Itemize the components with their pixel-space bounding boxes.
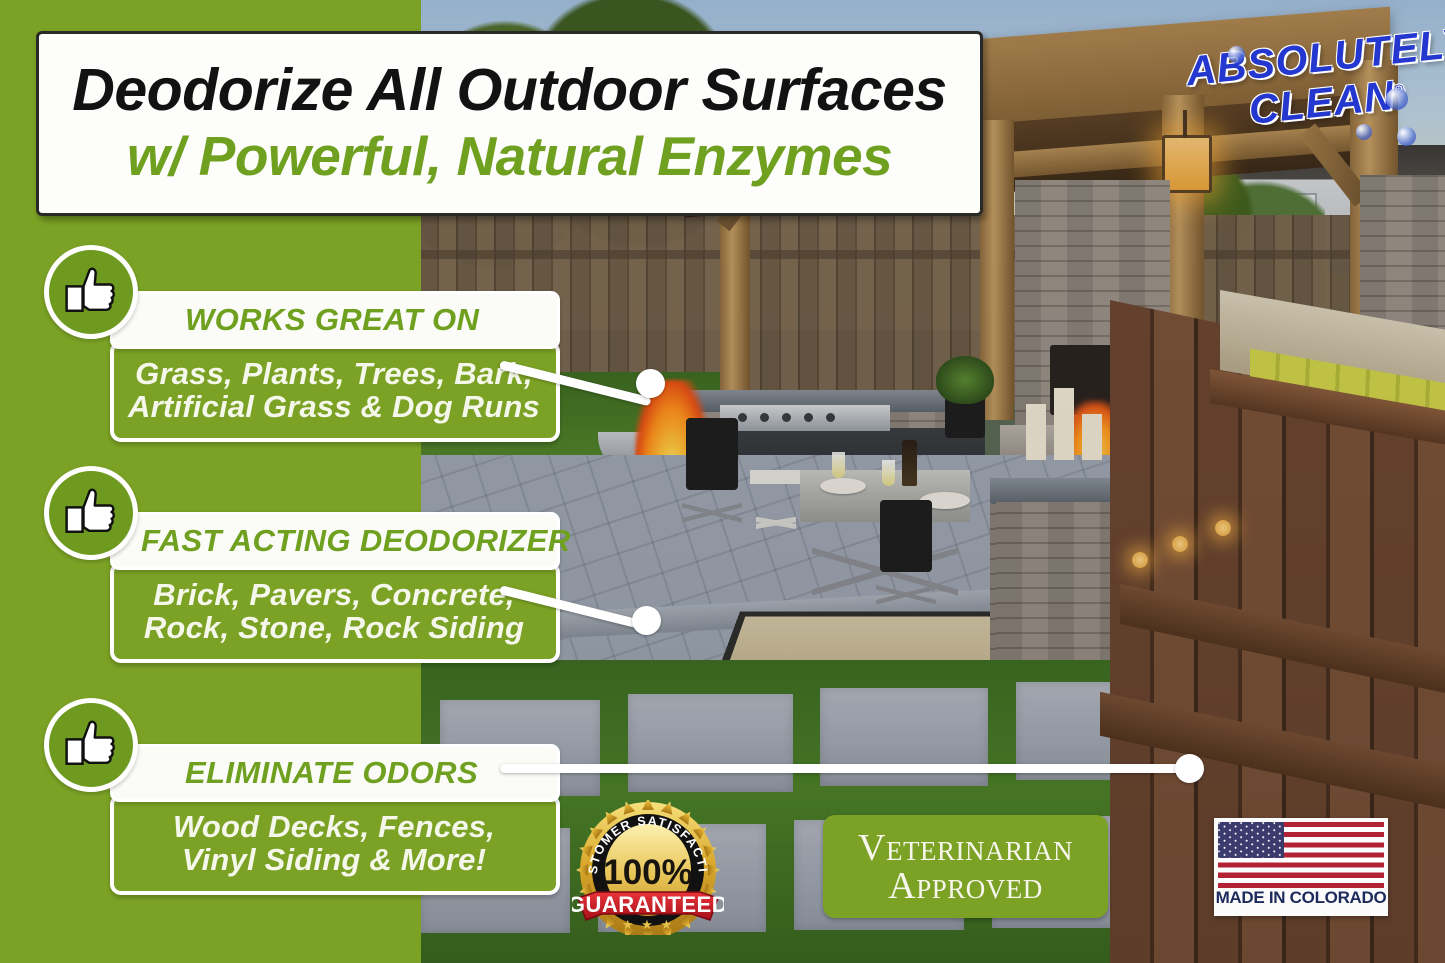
feature-body-box: Grass, Plants, Trees, Bark, Artificial G… bbox=[110, 341, 560, 442]
us-flag-icon bbox=[1218, 822, 1384, 888]
feature-body-line-1: Grass, Plants, Trees, Bark, bbox=[124, 357, 544, 390]
guarantee-ribbon-text: GUARANTEED bbox=[572, 892, 724, 917]
feature-body-box: Wood Decks, Fences, Vinyl Siding & More! bbox=[110, 794, 560, 895]
thumbs-up-icon bbox=[44, 245, 138, 339]
vet-badge-line-1: Veterinarian bbox=[858, 829, 1073, 867]
guarantee-stars: ★ ★ ★ bbox=[622, 917, 674, 932]
product-marketing-poster: Deodorize All Outdoor Surfaces w/ Powerf… bbox=[0, 0, 1445, 963]
feature-body-line-2: Vinyl Siding & More! bbox=[124, 843, 544, 876]
feature-heading-label: WORKS GREAT ON bbox=[113, 302, 479, 338]
headline-banner: Deodorize All Outdoor Surfaces w/ Powerf… bbox=[36, 31, 983, 216]
feature-heading-label: ELIMINATE ODORS bbox=[113, 755, 478, 791]
bubble-icon bbox=[1386, 88, 1408, 110]
thumbs-up-icon bbox=[44, 466, 138, 560]
headline-line-1: Deodorize All Outdoor Surfaces bbox=[72, 61, 947, 120]
feature-body-line-2: Artificial Grass & Dog Runs bbox=[124, 390, 544, 423]
feature-heading-bar: FAST ACTING DEODORIZER bbox=[110, 512, 560, 570]
callout-connector-line-3 bbox=[500, 764, 1190, 773]
bubble-icon bbox=[1228, 46, 1245, 63]
feature-body-line-1: Wood Decks, Fences, bbox=[124, 810, 544, 843]
brand-logo: ABSOLUTELY CLEAN® bbox=[1184, 29, 1410, 171]
veterinarian-approved-badge: Veterinarian Approved bbox=[823, 815, 1108, 918]
guarantee-percent-text: 100% bbox=[603, 853, 693, 892]
callout-connector-dot-2 bbox=[632, 606, 661, 635]
feature-heading-bar: WORKS GREAT ON bbox=[110, 291, 560, 349]
callout-connector-dot-3 bbox=[1175, 754, 1204, 783]
feature-body-box: Brick, Pavers, Concrete, Rock, Stone, Ro… bbox=[110, 562, 560, 663]
made-in-colorado-label: MADE IN COLORADO bbox=[1214, 888, 1388, 908]
feature-body-line-1: Brick, Pavers, Concrete, bbox=[124, 578, 544, 611]
callout-connector-dot-1 bbox=[636, 369, 665, 398]
bubble-icon bbox=[1356, 124, 1372, 140]
feature-heading-label: FAST ACTING DEODORIZER bbox=[113, 523, 571, 559]
headline-line-2: w/ Powerful, Natural Enzymes bbox=[127, 128, 892, 186]
thumbs-up-icon bbox=[44, 698, 138, 792]
bubble-icon bbox=[1397, 127, 1416, 146]
vet-badge-line-2: Approved bbox=[888, 867, 1042, 905]
satisfaction-guarantee-badge: CUSTOMER SATISFACTION 100% GUARANTEED ★ … bbox=[572, 800, 724, 935]
feature-body-line-2: Rock, Stone, Rock Siding bbox=[124, 611, 544, 644]
made-in-colorado-badge: MADE IN COLORADO bbox=[1214, 818, 1388, 916]
feature-heading-bar: ELIMINATE ODORS bbox=[110, 744, 560, 802]
